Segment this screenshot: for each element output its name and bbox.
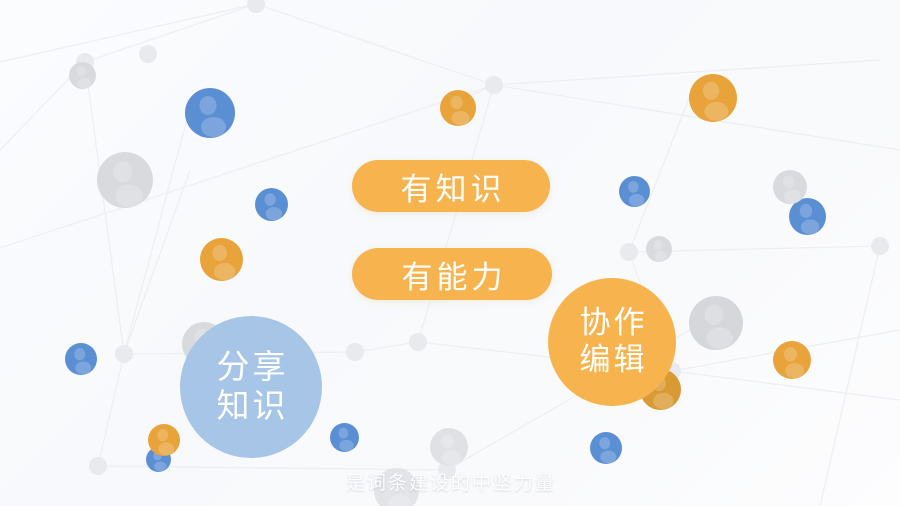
- network-line: [85, 62, 124, 354]
- bubble-line: 分享: [214, 348, 289, 387]
- bubble-line: 知识: [214, 387, 289, 426]
- network-node: [346, 343, 364, 361]
- avatar-orange-2-icon: [440, 90, 476, 126]
- avatar-gray-3-icon: [773, 170, 807, 204]
- avatar-blue-1-icon: [185, 88, 235, 138]
- network-line: [355, 342, 418, 352]
- avatar-blue-2-icon: [255, 188, 288, 221]
- avatar-gray-1-icon: [97, 152, 153, 208]
- avatar-gray-4-icon: [646, 236, 672, 262]
- avatar-blue-5-icon: [65, 343, 97, 375]
- avatar-gray-5-icon: [689, 296, 743, 350]
- avatar-blue-7-icon: [590, 432, 622, 464]
- network-node: [485, 76, 503, 94]
- network-node: [139, 45, 157, 63]
- avatar-gray-2-icon: [69, 62, 96, 89]
- network-line: [98, 354, 124, 466]
- pill-ability[interactable]: 有能力: [352, 248, 552, 300]
- avatar-blue-3-icon: [619, 176, 650, 207]
- network-line: [124, 112, 189, 354]
- bubble-line: 编辑: [577, 342, 648, 379]
- avatar-gray-7-icon: [430, 428, 468, 466]
- network-node: [409, 333, 427, 351]
- avatar-orange-1-icon: [689, 74, 737, 122]
- network-node: [871, 237, 889, 255]
- avatar-blue-4-icon: [789, 198, 826, 235]
- network-line: [85, 4, 256, 62]
- slide-canvas: 分享知识协作编辑 有知识有能力 是词条建设的中坚力量: [0, 0, 900, 506]
- network-node: [620, 243, 638, 261]
- network-line: [494, 60, 880, 85]
- network-node: [247, 0, 265, 13]
- subtitle-caption: 是词条建设的中坚力量: [0, 468, 900, 495]
- pill-label: 有知识: [397, 164, 506, 209]
- avatar-orange-3-icon: [200, 238, 243, 281]
- avatar-orange-4-icon: [773, 341, 811, 379]
- network-line: [820, 246, 880, 506]
- bubble-line: 协作: [577, 305, 648, 342]
- bubble-collaborative-editing[interactable]: 协作编辑: [548, 278, 676, 406]
- pill-label: 有能力: [398, 252, 507, 297]
- network-line: [0, 4, 256, 62]
- network-node: [115, 345, 133, 363]
- avatar-orange-6-icon: [148, 424, 180, 456]
- pill-knowledge[interactable]: 有知识: [352, 160, 550, 212]
- network-line: [629, 96, 690, 252]
- avatar-blue-6-icon: [330, 423, 359, 452]
- bubble-share-knowledge[interactable]: 分享知识: [180, 316, 322, 458]
- network-line: [256, 4, 494, 85]
